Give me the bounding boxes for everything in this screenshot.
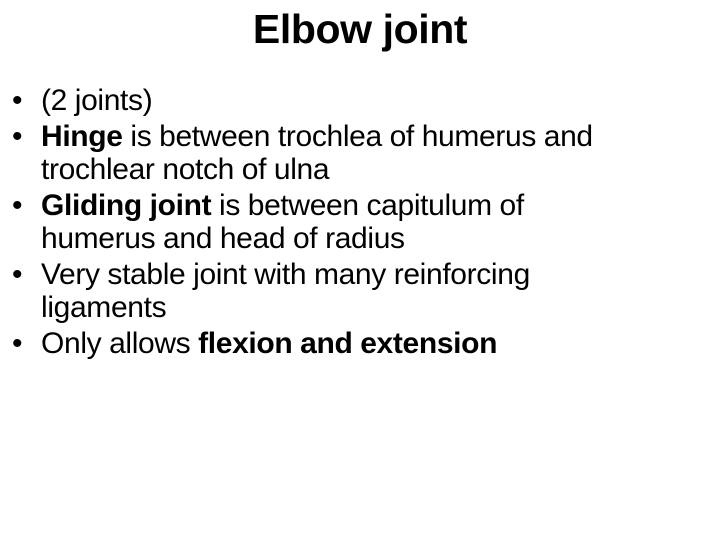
text-run-bold: Gliding joint <box>41 189 211 222</box>
bullet-list: • (2 joints) • Hinge is between trochlea… <box>8 84 676 360</box>
list-item-text: Only allows flexion and extension <box>41 327 676 360</box>
list-item-text: Gliding joint is between capitulum of hu… <box>41 189 586 255</box>
list-item: • Hinge is between trochlea of humerus a… <box>8 120 676 186</box>
list-item: • (2 joints) <box>8 84 676 117</box>
slide-canvas: Elbow joint • (2 joints) • Hinge is betw… <box>0 0 720 540</box>
list-item: • Only allows flexion and extension <box>8 327 676 360</box>
bullet-point-icon: • <box>12 327 32 360</box>
text-run: Only allows <box>41 327 198 360</box>
text-run: (2 joints) <box>41 84 152 117</box>
list-item-text: Very stable joint with many reinforcing … <box>41 258 593 324</box>
list-item: • Gliding joint is between capitulum of … <box>8 189 676 255</box>
list-item: • Very stable joint with many reinforcin… <box>8 258 676 324</box>
text-run-bold: flexion and extension <box>198 327 497 360</box>
page-title: Elbow joint <box>0 4 720 54</box>
text-run-bold: Hinge <box>41 120 123 153</box>
bullet-point-icon: • <box>12 84 32 117</box>
bullet-point-icon: • <box>12 258 32 291</box>
bullet-point-icon: • <box>12 120 32 153</box>
bullet-point-icon: • <box>12 189 32 222</box>
list-item-text: Hinge is between trochlea of humerus and… <box>41 120 661 186</box>
list-item-text: (2 joints) <box>41 84 676 117</box>
text-run: Very stable joint with many reinforcing … <box>41 258 530 324</box>
text-run: is between trochlea of humerus and troch… <box>41 120 593 186</box>
